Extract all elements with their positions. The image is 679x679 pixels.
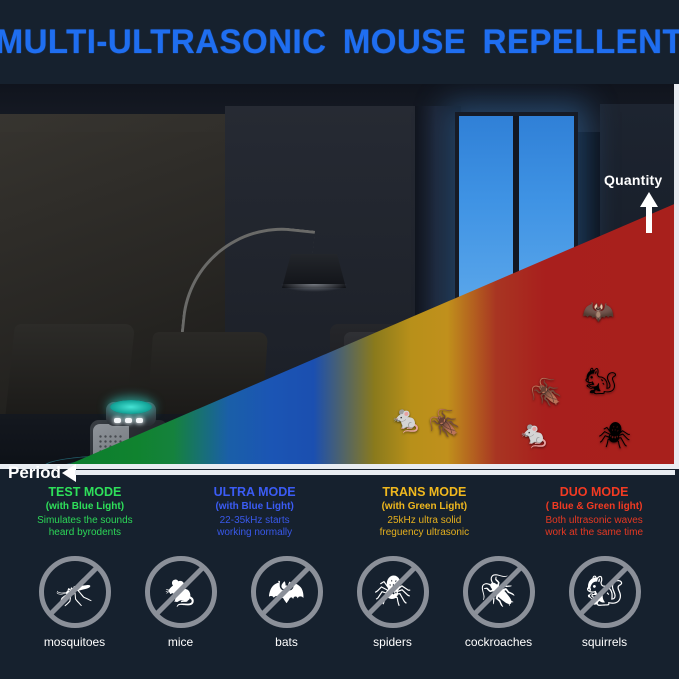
x-axis-label: Period xyxy=(8,463,61,483)
panel-border-right xyxy=(674,84,679,469)
device-led xyxy=(114,418,121,423)
animal-bat: 🦇 xyxy=(582,298,614,324)
title-bar: MULTI-ULTRASONIC MOUSE REPELLENT xyxy=(0,0,679,84)
prohibition-circle: 🕷 xyxy=(357,556,429,628)
y-axis-label: Quantity xyxy=(604,172,662,188)
product-infographic: MULTI-ULTRASONIC MOUSE REPELLENT xyxy=(0,0,679,679)
mode-light: ( Blue & Green light) xyxy=(509,500,679,514)
prohibition-circle: 🐿 xyxy=(569,556,641,628)
mode-column-duo: DUO MODE ( Blue & Green light) Both ultr… xyxy=(509,484,679,546)
panel-border-bottom xyxy=(0,464,679,469)
mode-description: working normally xyxy=(170,527,340,539)
mode-column-test: TEST MODE (with Blue Light) Simulates th… xyxy=(0,484,170,546)
animal-mouse: 🐁 xyxy=(518,421,550,447)
mode-column-trans: TRANS MODE (with Green Light) 25kHz ultr… xyxy=(340,484,510,546)
x-axis-shaft xyxy=(75,470,675,475)
mode-name: TRANS MODE xyxy=(340,486,510,500)
pest-label: cockroaches xyxy=(465,635,532,649)
animal-cockroach: 🪳 xyxy=(428,410,460,436)
animal-squirrel: 🐿 xyxy=(584,368,617,394)
pest-item-spiders: 🕷 spiders xyxy=(351,556,435,666)
mode-light: (with Blue Light) xyxy=(0,500,170,514)
pest-item-cockroaches: 🪳 cockroaches xyxy=(457,556,541,666)
pest-label: spiders xyxy=(373,635,412,649)
prohibition-circle: 🪳 xyxy=(463,556,535,628)
prohibition-circle: 🦟 xyxy=(39,556,111,628)
animal-cockroach: 🪳 xyxy=(530,379,562,405)
mode-description: Simulates the sounds xyxy=(0,515,170,527)
animal-mouse: 🐁 xyxy=(390,406,422,432)
page-title: MULTI-ULTRASONIC MOUSE REPELLENT xyxy=(0,23,679,62)
pest-label: squirrels xyxy=(582,635,627,649)
pest-item-mice: 🐁 mice xyxy=(139,556,223,666)
prohibition-circle: 🐁 xyxy=(145,556,217,628)
pest-icon-row: 🦟 mosquitoes 🐁 mice 🦇 bats 🕷 s xyxy=(0,556,679,666)
lamp-glow xyxy=(280,284,348,292)
lamp-shade xyxy=(282,254,346,288)
mode-legend: TEST MODE (with Blue Light) Simulates th… xyxy=(0,484,679,546)
mode-description: 25kHz ultra solid xyxy=(340,515,510,527)
pest-label: bats xyxy=(275,635,298,649)
mode-description: 22-35kHz starts xyxy=(170,515,340,527)
pest-item-bats: 🦇 bats xyxy=(245,556,329,666)
scene-chart-panel: 🐁 🪳 🪳 🐁 🦇 🐿 🕷 xyxy=(0,84,679,469)
mode-name: TEST MODE xyxy=(0,486,170,500)
animal-spider: 🕷 xyxy=(598,422,631,448)
device-led xyxy=(136,418,143,423)
mode-description: heard byrodents xyxy=(0,527,170,539)
pest-label: mosquitoes xyxy=(44,635,105,649)
mode-name: ULTRA MODE xyxy=(170,486,340,500)
device-indicator-ring xyxy=(110,400,152,414)
device-led xyxy=(125,418,132,423)
mode-description: freguency ultrasonic xyxy=(340,527,510,539)
y-axis-shaft xyxy=(646,205,652,233)
mode-column-ultra: ULTRA MODE (with Blue Light) 22-35kHz st… xyxy=(170,484,340,546)
mode-description: work at the same time xyxy=(509,527,679,539)
pest-item-mosquitoes: 🦟 mosquitoes xyxy=(33,556,117,666)
mode-description: Both ultrasonic waves xyxy=(509,515,679,527)
prohibition-circle: 🦇 xyxy=(251,556,323,628)
mode-light: (with Blue Light) xyxy=(170,500,340,514)
x-axis-arrow-icon xyxy=(62,464,76,482)
pest-item-squirrels: 🐿 squirrels xyxy=(563,556,647,666)
mode-light: (with Green Light) xyxy=(340,500,510,514)
mode-name: DUO MODE xyxy=(509,486,679,500)
pest-label: mice xyxy=(168,635,193,649)
